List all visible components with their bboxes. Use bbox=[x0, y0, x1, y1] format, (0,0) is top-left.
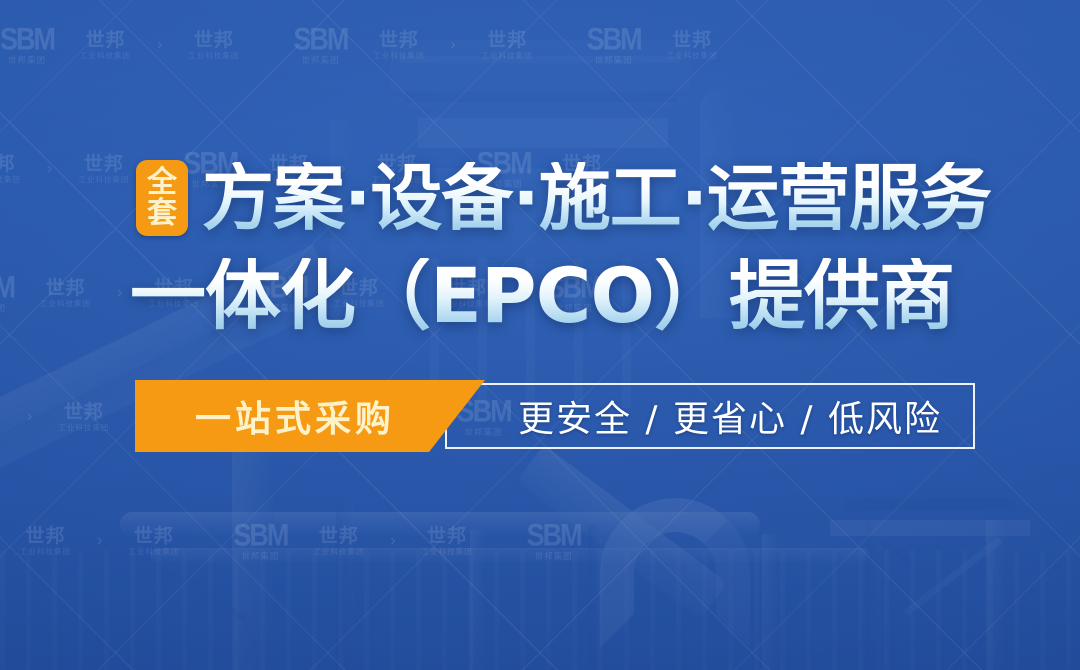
headline-row-1: 全 套 方案·设备·施工·运营服务 bbox=[136, 160, 991, 236]
one-stop-purchase-label: 一站式采购 bbox=[195, 390, 395, 442]
headline-row-2: 一体化（EPCO）提供商 bbox=[130, 258, 954, 334]
benefits-strip: 更安全 / 更省心 / 低风险 一站式采购 bbox=[135, 380, 975, 452]
promotional-banner: SBM 世邦集团 世邦 工业科技集团 › 世邦 工业科技集团 SBM 世邦集团 bbox=[0, 0, 1080, 670]
one-stop-purchase-tag: 一站式采购 bbox=[135, 380, 485, 452]
badge-char-top: 全 bbox=[147, 168, 177, 197]
badge-char-bottom: 套 bbox=[147, 199, 177, 228]
banner-content: 全 套 方案·设备·施工·运营服务 一体化（EPCO）提供商 更安全 / 更省心… bbox=[0, 0, 1080, 670]
headline-line-2: 一体化（EPCO）提供商 bbox=[130, 258, 954, 334]
benefits-label: 更安全 / 更省心 / 低风险 bbox=[518, 390, 942, 442]
headline-line-1: 方案·设备·施工·运营服务 bbox=[202, 162, 991, 234]
full-set-badge: 全 套 bbox=[136, 160, 188, 236]
benefits-text-area: 更安全 / 更省心 / 低风险 bbox=[485, 380, 975, 452]
